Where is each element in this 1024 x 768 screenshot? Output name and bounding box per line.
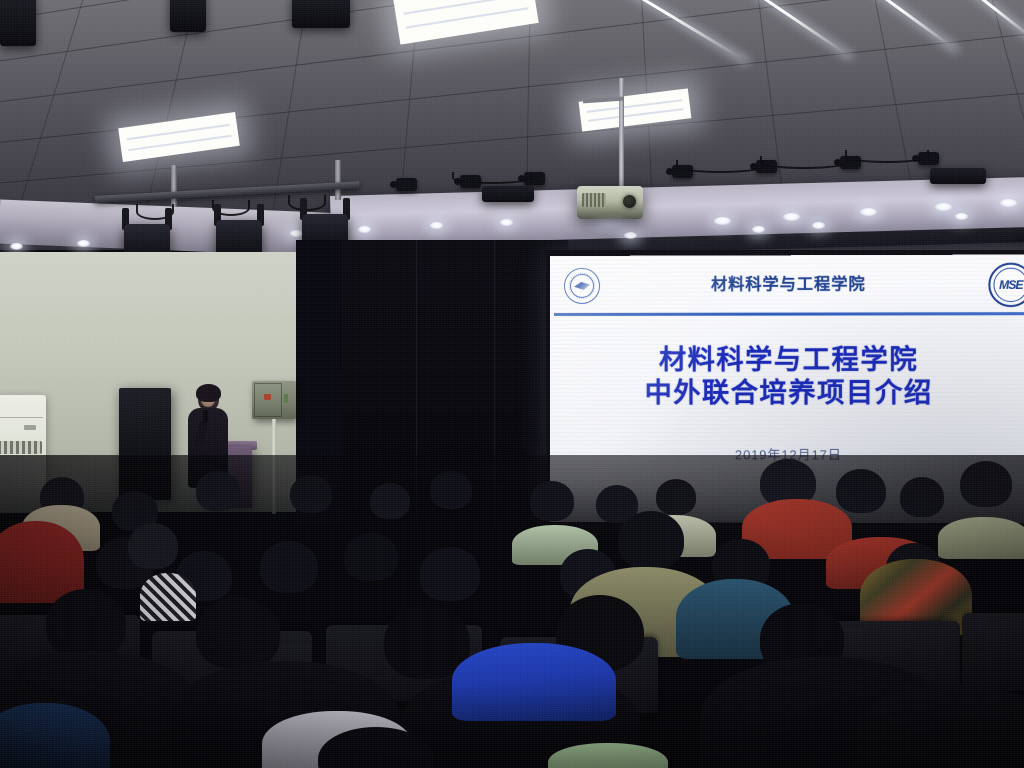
projector-glow <box>583 214 637 236</box>
audience-head <box>290 475 332 513</box>
recessed-downlight <box>752 226 765 233</box>
recessed-downlight <box>77 240 90 247</box>
hanging-speaker <box>482 186 534 202</box>
microphone <box>203 410 208 423</box>
seat-back <box>962 613 1024 691</box>
audience-garment-pale-hood <box>938 517 1024 559</box>
projector-lens <box>623 195 636 208</box>
audience-head <box>420 547 480 601</box>
audience-garment-patterned-scarf <box>140 573 196 621</box>
audience-head <box>836 469 886 513</box>
truss-support-post <box>335 160 341 200</box>
cabinet-warning-label <box>264 394 271 400</box>
audience <box>0 455 1024 768</box>
light-cable <box>760 156 848 169</box>
audience-head <box>960 461 1012 507</box>
audience-head <box>530 481 574 521</box>
projector-mount-pole <box>619 78 624 188</box>
audience-head <box>430 471 472 509</box>
cabinet-door <box>254 383 282 417</box>
audience-head <box>196 471 240 511</box>
recessed-downlight <box>860 208 877 216</box>
recessed-downlight <box>500 219 513 226</box>
ac-seam <box>0 417 43 418</box>
slide-header: 材料科学与工程学院 <box>550 255 1024 310</box>
recessed-downlight <box>1000 199 1017 207</box>
audience-head <box>46 589 126 659</box>
recessed-downlight <box>955 213 968 220</box>
audience-head <box>260 541 318 593</box>
ac-display <box>24 425 36 430</box>
slide-header-divider <box>554 312 1024 315</box>
cabinet-latch <box>284 394 288 403</box>
audience-head <box>344 533 398 581</box>
audience-head <box>900 477 944 517</box>
truss-support-post <box>171 165 177 207</box>
electrical-cabinet <box>252 381 296 419</box>
recessed-downlight <box>783 213 800 221</box>
hanging-speaker <box>170 0 206 32</box>
presenter-hair <box>196 384 221 402</box>
recessed-downlight <box>10 243 23 250</box>
track-spotlight <box>396 178 417 191</box>
recessed-downlight <box>430 222 443 229</box>
light-cable <box>845 150 929 163</box>
audience-head <box>618 511 684 569</box>
audience-head <box>128 523 178 569</box>
projector-vent <box>582 193 606 207</box>
hanging-speaker <box>930 168 986 184</box>
audience-head <box>370 483 410 519</box>
hanging-speaker <box>292 0 350 28</box>
audience-head <box>656 479 696 515</box>
ac-vent-grille <box>0 441 42 454</box>
light-cable <box>676 160 764 173</box>
recessed-downlight <box>358 226 371 233</box>
slide-header-text: 材料科学与工程学院 <box>711 270 866 295</box>
recessed-downlight <box>714 217 731 225</box>
hanging-speaker <box>0 0 36 46</box>
light-cable <box>452 172 532 184</box>
lecture-hall-photo: 材料科学与工程学院 MSE 材料科学与工程学院 中外联合培养项目介绍 2019年… <box>0 0 1024 768</box>
slide-title-line-2: 中外联合培养项目介绍 <box>645 377 933 410</box>
recessed-downlight <box>812 222 825 229</box>
slide-title-line-1: 材料科学与工程学院 <box>659 344 918 377</box>
recessed-downlight <box>935 203 952 211</box>
audience-head <box>196 597 280 669</box>
emblem-ring <box>993 268 1024 302</box>
audience-garment-blue-jacket <box>452 643 616 721</box>
